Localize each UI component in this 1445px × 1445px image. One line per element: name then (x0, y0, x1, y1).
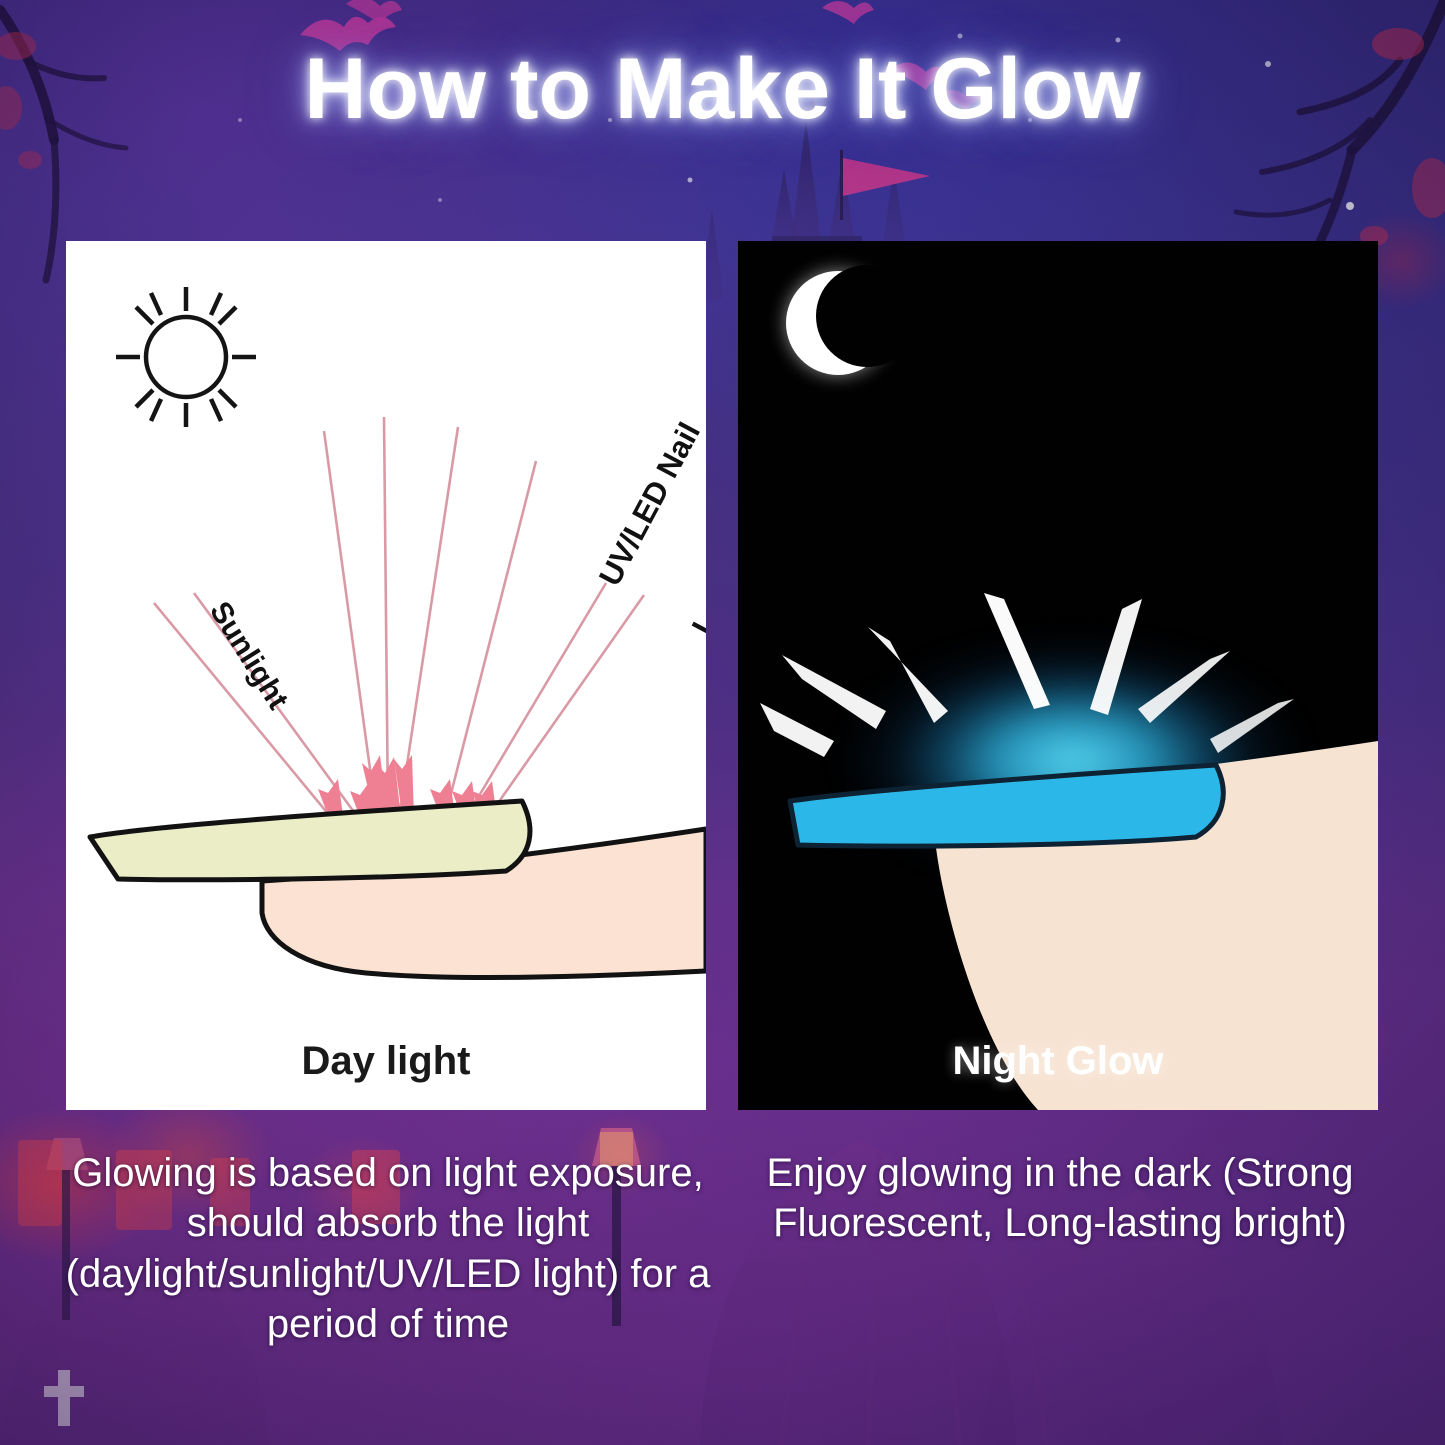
day-light-panel: Sunlight UV/LED Nail Lamp's Light Day li… (66, 241, 706, 1110)
page-title: How to Make It Glow (0, 46, 1445, 132)
uv-lamp-label-line1: UV/LED Nail (593, 406, 706, 592)
day-light-caption: Day light (66, 1039, 706, 1084)
left-description-caption: Glowing is based on light exposure, shou… (58, 1148, 718, 1350)
night-glow-caption: Night Glow (738, 1039, 1378, 1084)
infographic-page: How to Make It Glow (0, 0, 1445, 1445)
uv-lamp-label-line2: Lamp's Light (685, 455, 706, 641)
night-glow-panel: Night Glow (738, 241, 1378, 1110)
finger-with-nail-night (738, 241, 1378, 1110)
finger-with-nail-day (66, 241, 706, 1110)
right-description-caption: Enjoy glowing in the dark (Strong Fluore… (730, 1148, 1390, 1249)
